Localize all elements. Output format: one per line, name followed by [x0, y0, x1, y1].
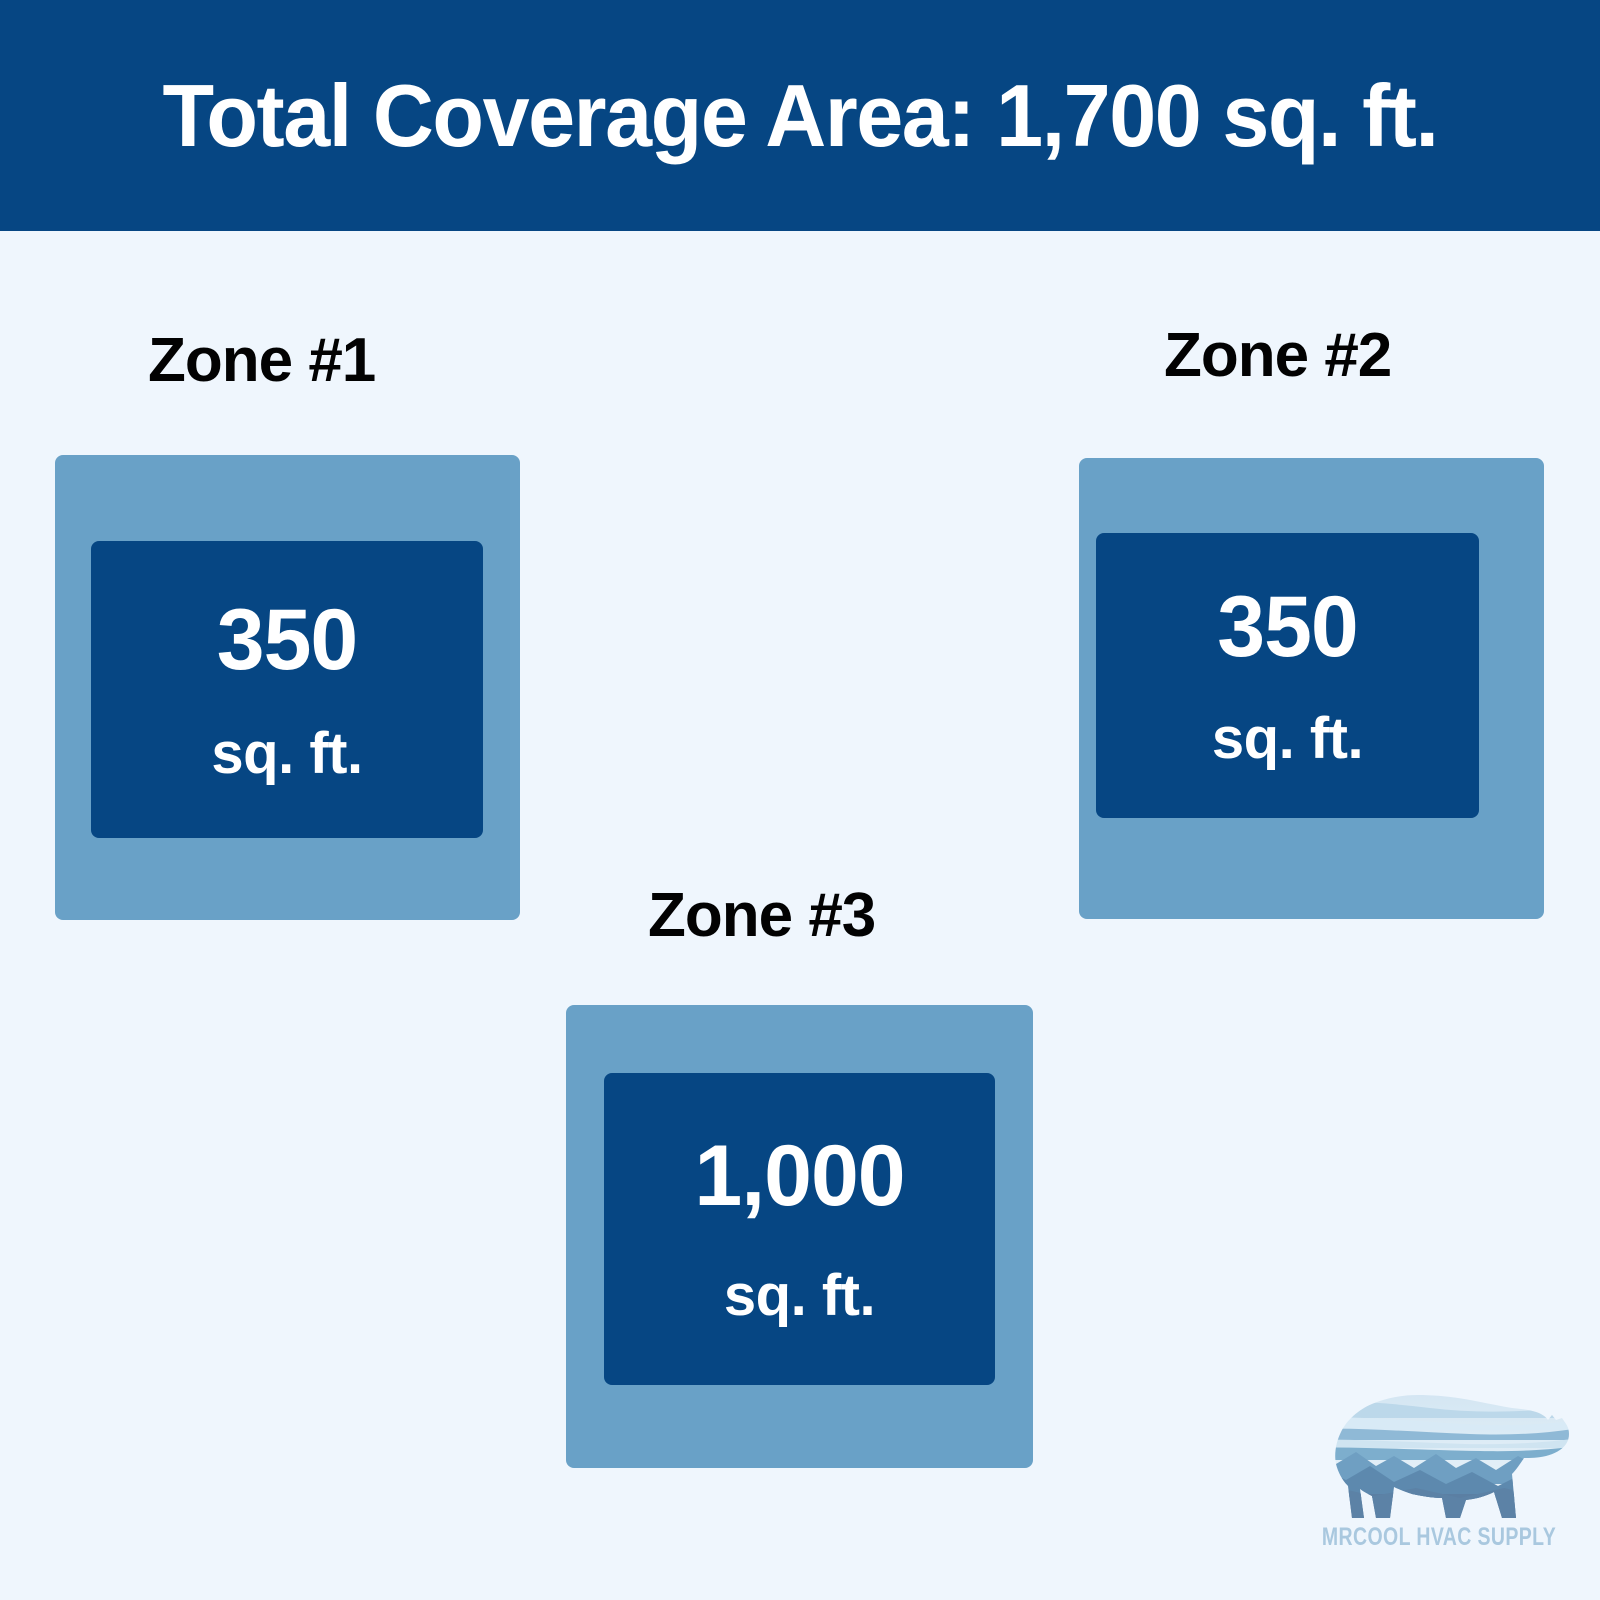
zone-1-inner-box: 350 sq. ft.	[91, 541, 483, 838]
zone-2-label: Zone #2	[1164, 325, 1391, 387]
zone-1-label: Zone #1	[148, 330, 375, 392]
zone-3-unit: sq. ft.	[724, 1267, 875, 1325]
header-banner: Total Coverage Area: 1,700 sq. ft.	[0, 0, 1600, 231]
zone-3-value: 1,000	[694, 1133, 904, 1219]
zone-3-label: Zone #3	[648, 885, 875, 947]
zone-1-outer-box: 350 sq. ft.	[55, 455, 520, 920]
zone-1-unit: sq. ft.	[211, 725, 362, 783]
zone-3-outer-box: 1,000 sq. ft.	[566, 1005, 1033, 1468]
zone-2-value: 350	[1217, 584, 1358, 670]
zone-2-outer-box: 350 sq. ft.	[1079, 458, 1544, 919]
brand-logo-text: MRCOOL HVAC SUPPLY	[1322, 1523, 1548, 1552]
polar-bear-icon	[1290, 1368, 1580, 1528]
zone-2-unit: sq. ft.	[1212, 710, 1363, 768]
zone-1-value: 350	[217, 597, 358, 683]
zone-3-inner-box: 1,000 sq. ft.	[604, 1073, 995, 1385]
page-title: Total Coverage Area: 1,700 sq. ft.	[32, 0, 1568, 231]
brand-logo: MRCOOL HVAC SUPPLY	[1290, 1368, 1580, 1578]
zone-2-inner-box: 350 sq. ft.	[1096, 533, 1479, 818]
